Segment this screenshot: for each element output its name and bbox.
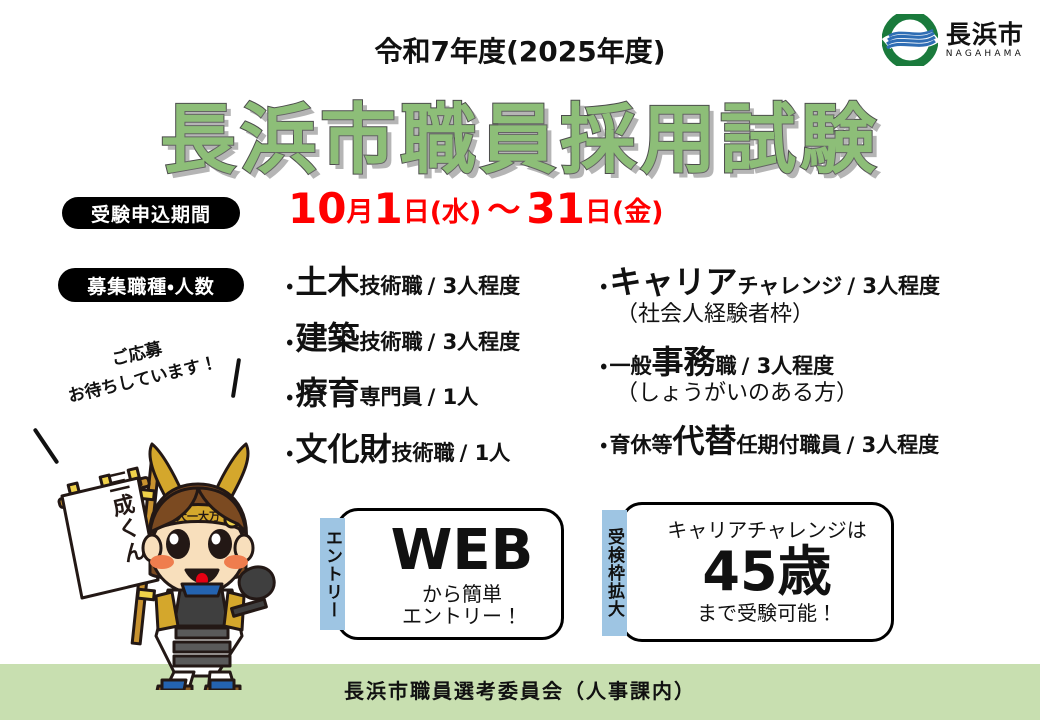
job-title-suffix: 専門員 bbox=[360, 385, 423, 409]
web-entry-hero-text: WEB bbox=[391, 520, 534, 583]
web-entry-callout-body: WEB から簡単 エントリー！ bbox=[339, 511, 573, 637]
job-list-right: ・キャリアチャレンジ / 3人程度 （社会人経験者枠） ・一般事務職 / 3人程… bbox=[600, 266, 1030, 479]
job-title-strong: 療育 bbox=[295, 374, 359, 412]
job-title-strong: 代替 bbox=[672, 422, 736, 460]
period-end-weekday: (金) bbox=[612, 197, 664, 228]
job-eligibility-note: （しょうがいのある方） bbox=[616, 382, 1030, 405]
footer-organization: 長浜市職員選考委員会（人事課内） bbox=[0, 675, 1040, 704]
job-title-suffix: 職 bbox=[716, 354, 737, 378]
job-title-strong: 事務 bbox=[651, 343, 715, 381]
list-bullet: ・ bbox=[286, 441, 293, 466]
period-day-unit-end: 日 bbox=[585, 197, 612, 228]
age-limit-headline: キャリアチャレンジは bbox=[667, 519, 866, 541]
job-headcount: / 1人 bbox=[428, 385, 479, 409]
list-item: ・建築技術職 / 3人程度 bbox=[286, 322, 596, 356]
job-title-prefix: 一般 bbox=[609, 354, 651, 378]
job-categories-badge: 募集職種・人数 bbox=[58, 268, 244, 302]
list-bullet: ・ bbox=[600, 354, 607, 379]
list-bullet: ・ bbox=[286, 274, 293, 299]
job-headcount: / 3人程度 bbox=[847, 274, 940, 298]
job-title-prefix: 育休等 bbox=[609, 433, 672, 457]
age-limit-callout-body: キャリアチャレンジは 45歳 まで受験可能！ bbox=[623, 505, 901, 639]
job-title-suffix: 技術職 bbox=[392, 441, 455, 465]
period-day-unit-start: 日 bbox=[403, 197, 430, 228]
web-entry-line3: エントリー！ bbox=[402, 605, 522, 627]
web-entry-line2: から簡単 bbox=[422, 583, 502, 605]
period-month-unit: 月 bbox=[346, 197, 373, 228]
period-end-day: 31 bbox=[526, 184, 584, 233]
application-period-badge: 受験申込期間 bbox=[62, 197, 240, 229]
list-bullet: ・ bbox=[600, 274, 607, 299]
job-headcount: / 3人程度 bbox=[428, 330, 521, 354]
job-eligibility-note: （社会人経験者枠） bbox=[616, 303, 1030, 326]
age-limit-line3: まで受験可能！ bbox=[697, 602, 837, 624]
age-expansion-tab-label: 受検枠拡大 bbox=[602, 510, 627, 636]
job-headcount: / 1人 bbox=[460, 441, 511, 465]
period-start-month: 10 bbox=[288, 184, 346, 233]
job-headcount: / 3人程度 bbox=[742, 354, 835, 378]
job-title-strong: 建築 bbox=[295, 319, 359, 357]
job-title-suffix: 任期付職員 bbox=[737, 433, 842, 457]
job-headcount: / 3人程度 bbox=[428, 274, 521, 298]
period-start-day: 1 bbox=[373, 184, 402, 233]
job-title-suffix: 技術職 bbox=[360, 330, 423, 354]
list-bullet: ・ bbox=[286, 330, 293, 355]
period-start-weekday: (水) bbox=[430, 197, 482, 228]
fiscal-year-subtitle: 令和7年度(2025年度) bbox=[0, 30, 1040, 70]
period-range-separator: ～ bbox=[487, 190, 520, 229]
application-period-value: 10月1日(水)～31日(金) bbox=[288, 188, 664, 230]
age-limit-callout[interactable]: キャリアチャレンジは 45歳 まで受験可能！ bbox=[620, 502, 894, 642]
list-item: ・育休等代替任期付職員 / 3人程度 bbox=[600, 425, 1030, 459]
job-list-left: ・土木技術職 / 3人程度 ・建築技術職 / 3人程度 ・療育専門員 / 1人 … bbox=[286, 266, 596, 488]
list-bullet: ・ bbox=[286, 385, 293, 410]
page-title: 長浜市職員採用試験 bbox=[0, 78, 1040, 188]
emphasis-stroke-right-icon bbox=[231, 358, 241, 398]
job-title-suffix: 技術職 bbox=[360, 274, 423, 298]
list-item: ・療育専門員 / 1人 bbox=[286, 377, 596, 411]
mitsunari-kun-mascot: 大一大万 bbox=[46, 440, 278, 690]
age-limit-hero-text: 45歳 bbox=[702, 542, 831, 602]
list-item: ・土木技術職 / 3人程度 bbox=[286, 266, 596, 300]
job-title-strong: キャリア bbox=[609, 263, 737, 301]
list-item: ・一般事務職 / 3人程度 （しょうがいのある方） bbox=[600, 346, 1030, 406]
web-entry-tab-label: エントリー bbox=[320, 518, 345, 630]
job-title-strong: 文化財 bbox=[295, 430, 391, 468]
list-bullet: ・ bbox=[600, 433, 607, 458]
job-title-suffix: チャレンジ bbox=[738, 274, 843, 298]
mascot-body bbox=[156, 584, 244, 676]
list-item: ・文化財技術職 / 1人 bbox=[286, 433, 596, 467]
welcome-note: ご応募 お待ちしています！ bbox=[60, 326, 220, 410]
recruitment-poster: 長浜市 NAGAHAMA 令和7年度(2025年度) 長浜市職員採用試験 受験申… bbox=[0, 0, 1040, 720]
job-headcount: / 3人程度 bbox=[847, 433, 940, 457]
job-title-strong: 土木 bbox=[295, 263, 359, 301]
web-entry-callout[interactable]: WEB から簡単 エントリー！ bbox=[336, 508, 564, 640]
list-item: ・キャリアチャレンジ / 3人程度 （社会人経験者枠） bbox=[600, 266, 1030, 326]
